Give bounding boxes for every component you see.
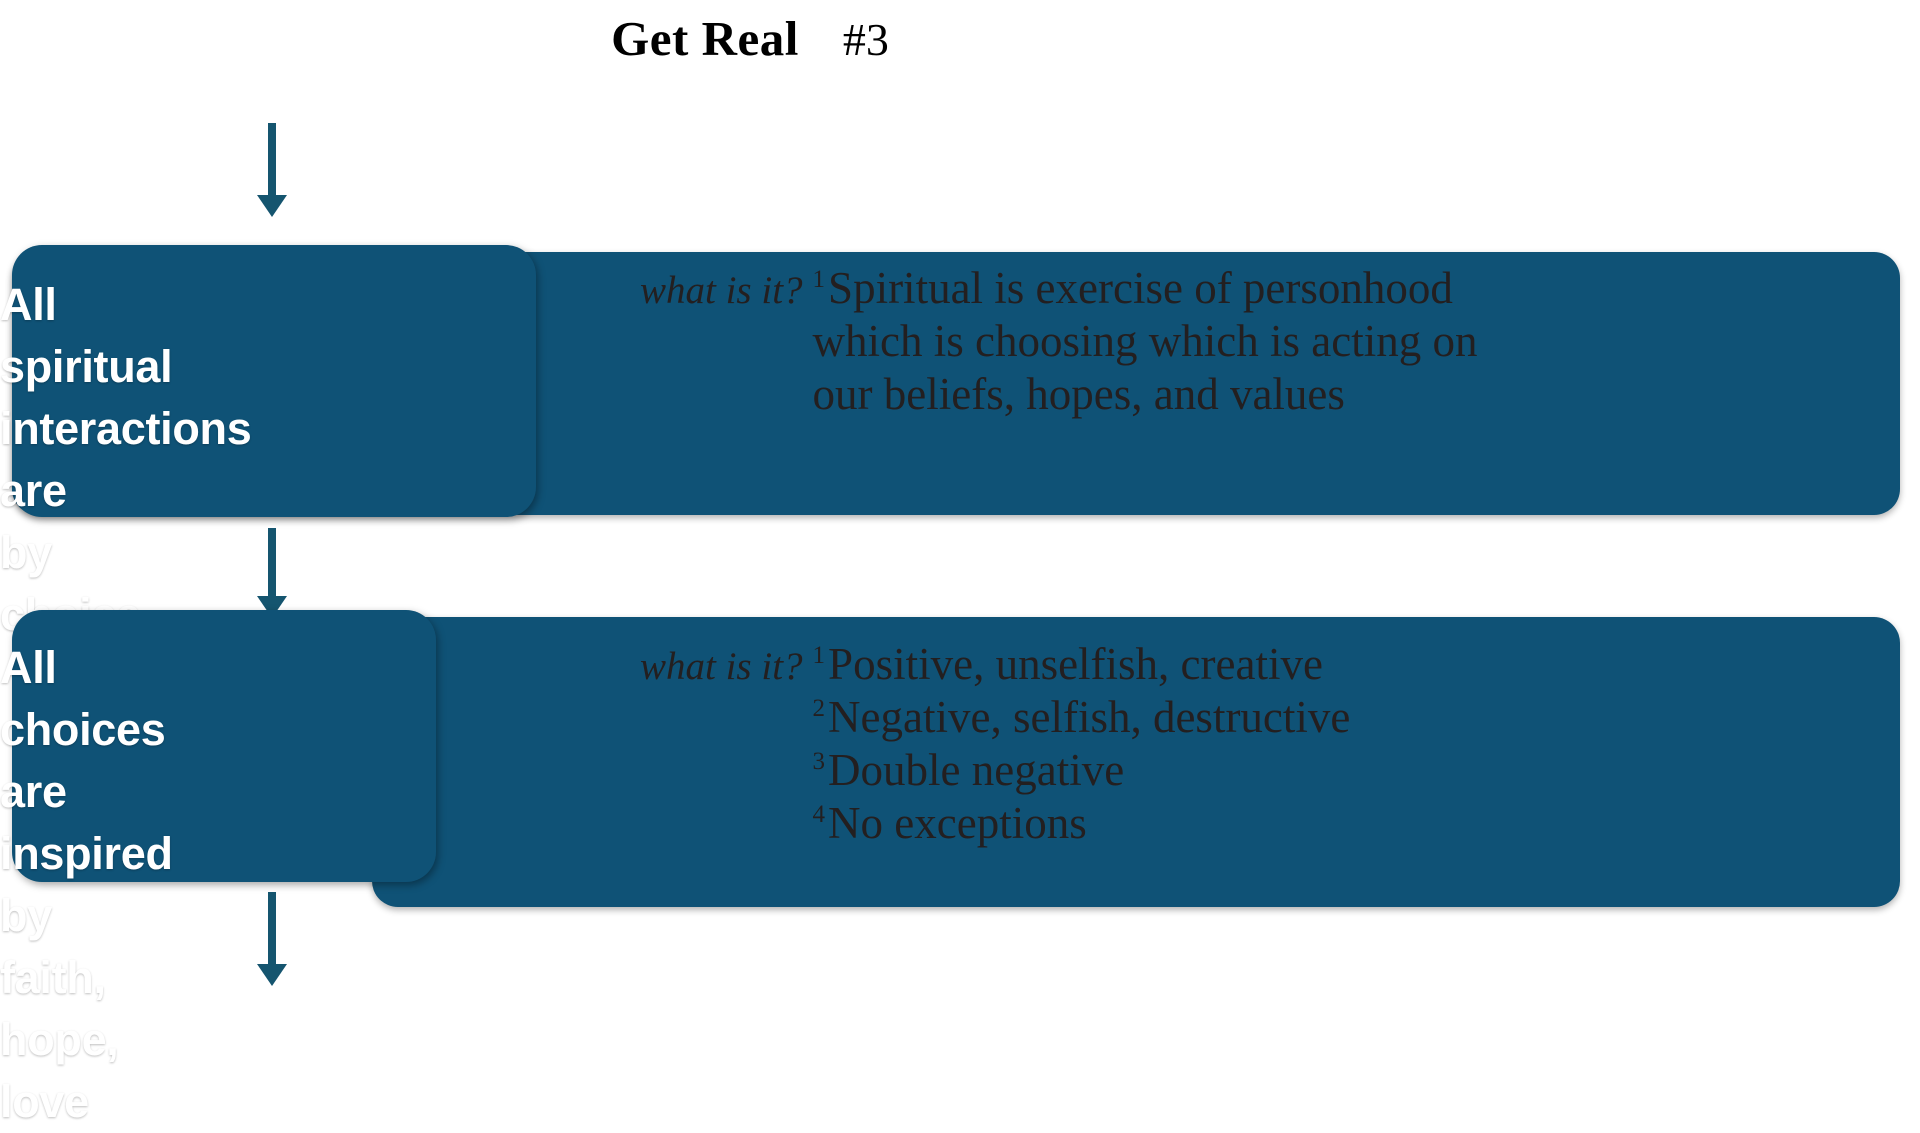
what-is-it-label: what is it? [640, 645, 803, 688]
item-line-text: Positive, unselfish, creative [828, 639, 1323, 689]
arrow-shaft [268, 123, 276, 201]
detail-line: 3Double negative [813, 744, 1351, 797]
detail-text-two: what is it?1Positive, unselfish, creativ… [640, 638, 1350, 850]
arrow-shaft [268, 528, 276, 602]
item-line-text: Spiritual is exercise of personhood [828, 263, 1453, 313]
arrow-into-block-one-icon [252, 123, 292, 223]
detail-line: which is choosing which is acting on [813, 315, 1478, 368]
arrow-out-of-block-two-icon [252, 892, 292, 992]
page-title: Get Real#3 [0, 10, 1500, 67]
detail-line: our beliefs, hopes, and values [813, 368, 1478, 421]
item-marker: 4 [813, 801, 826, 828]
arrow-head [257, 964, 287, 986]
arrow-shaft [268, 892, 276, 970]
item-line-text: Negative, selfish, destructive [828, 692, 1350, 742]
item-marker: 1 [813, 642, 826, 669]
diagram-canvas: Get Real#3 All spiritual interactions ar… [0, 0, 1920, 1080]
arrow-head [257, 195, 287, 217]
detail-line: 2Negative, selfish, destructive [813, 691, 1351, 744]
detail-line: 4No exceptions [813, 797, 1351, 850]
detail-line: 1Positive, unselfish, creative [813, 638, 1351, 691]
title-number: #3 [843, 14, 889, 65]
what-is-it-label: what is it? [640, 269, 803, 312]
item-line-text: Double negative [828, 745, 1124, 795]
item-marker: 2 [813, 695, 826, 722]
title-text: Get Real [611, 11, 799, 66]
item-marker: 3 [813, 748, 826, 775]
item-line-text: No exceptions [828, 798, 1087, 848]
detail-line: 1Spiritual is exercise of personhood [813, 262, 1478, 315]
item-marker: 1 [813, 266, 826, 293]
detail-item: 1Spiritual is exercise of personhoodwhic… [813, 262, 1478, 421]
detail-item-list: 1Positive, unselfish, creative2Negative,… [813, 638, 1351, 850]
detail-text-one: what is it?1Spiritual is exercise of per… [640, 262, 1477, 421]
